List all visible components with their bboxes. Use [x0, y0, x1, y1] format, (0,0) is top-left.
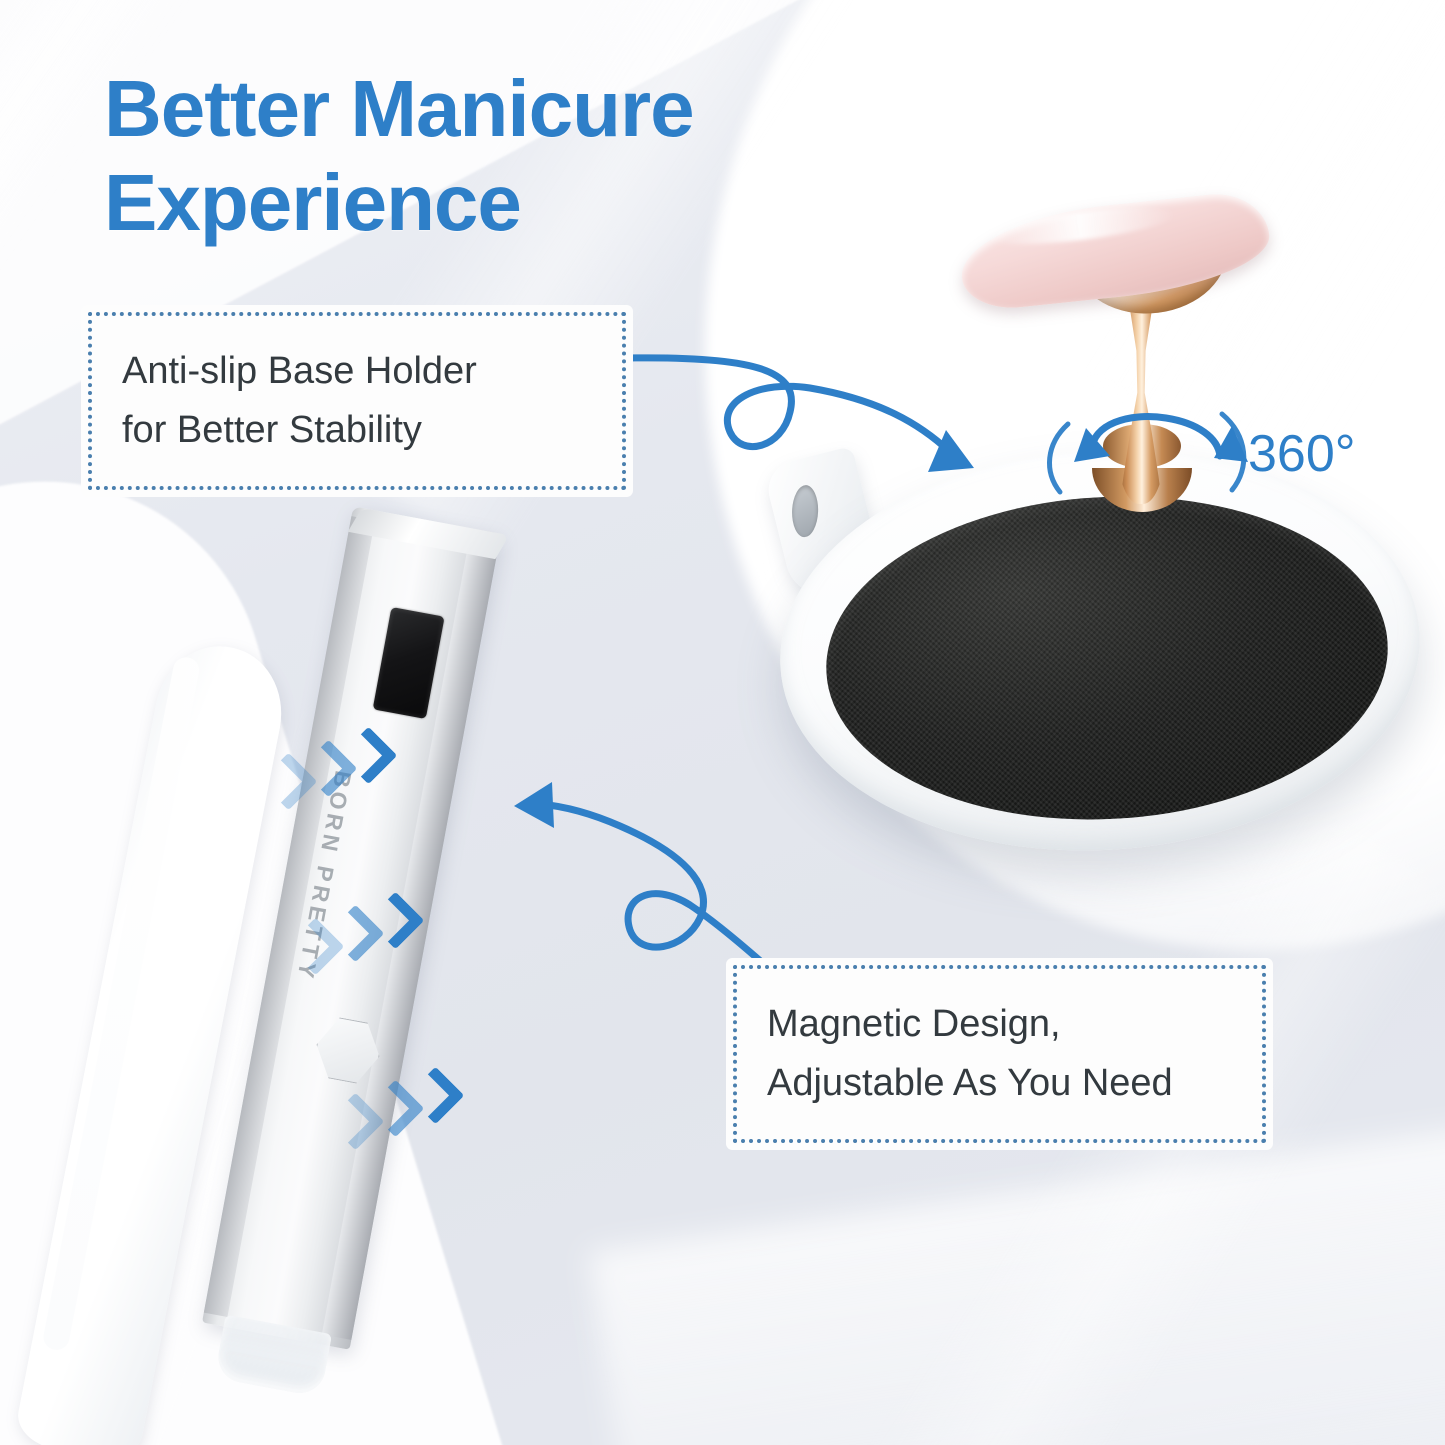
product-feature-image: BORN PRETTY Better Manicure [0, 0, 1445, 1445]
callout-anti-slip-base-holder: Anti-slip Base Holder for Better Stabili… [88, 312, 626, 490]
callout-2-line-1: Magnetic Design, [767, 995, 1232, 1054]
headline-line-2: Experience [104, 156, 864, 250]
headline-line-1: Better Manicure [104, 62, 864, 156]
callout-magnetic-design: Magnetic Design, Adjustable As You Need [733, 965, 1266, 1143]
page-title: Better Manicure Experience [104, 62, 864, 251]
callout-1-line-2: for Better Stability [122, 401, 592, 460]
rotation-360-label: 360° [1248, 424, 1356, 484]
callout-2-line-2: Adjustable As You Need [767, 1054, 1232, 1113]
callout-1-line-1: Anti-slip Base Holder [122, 342, 592, 401]
